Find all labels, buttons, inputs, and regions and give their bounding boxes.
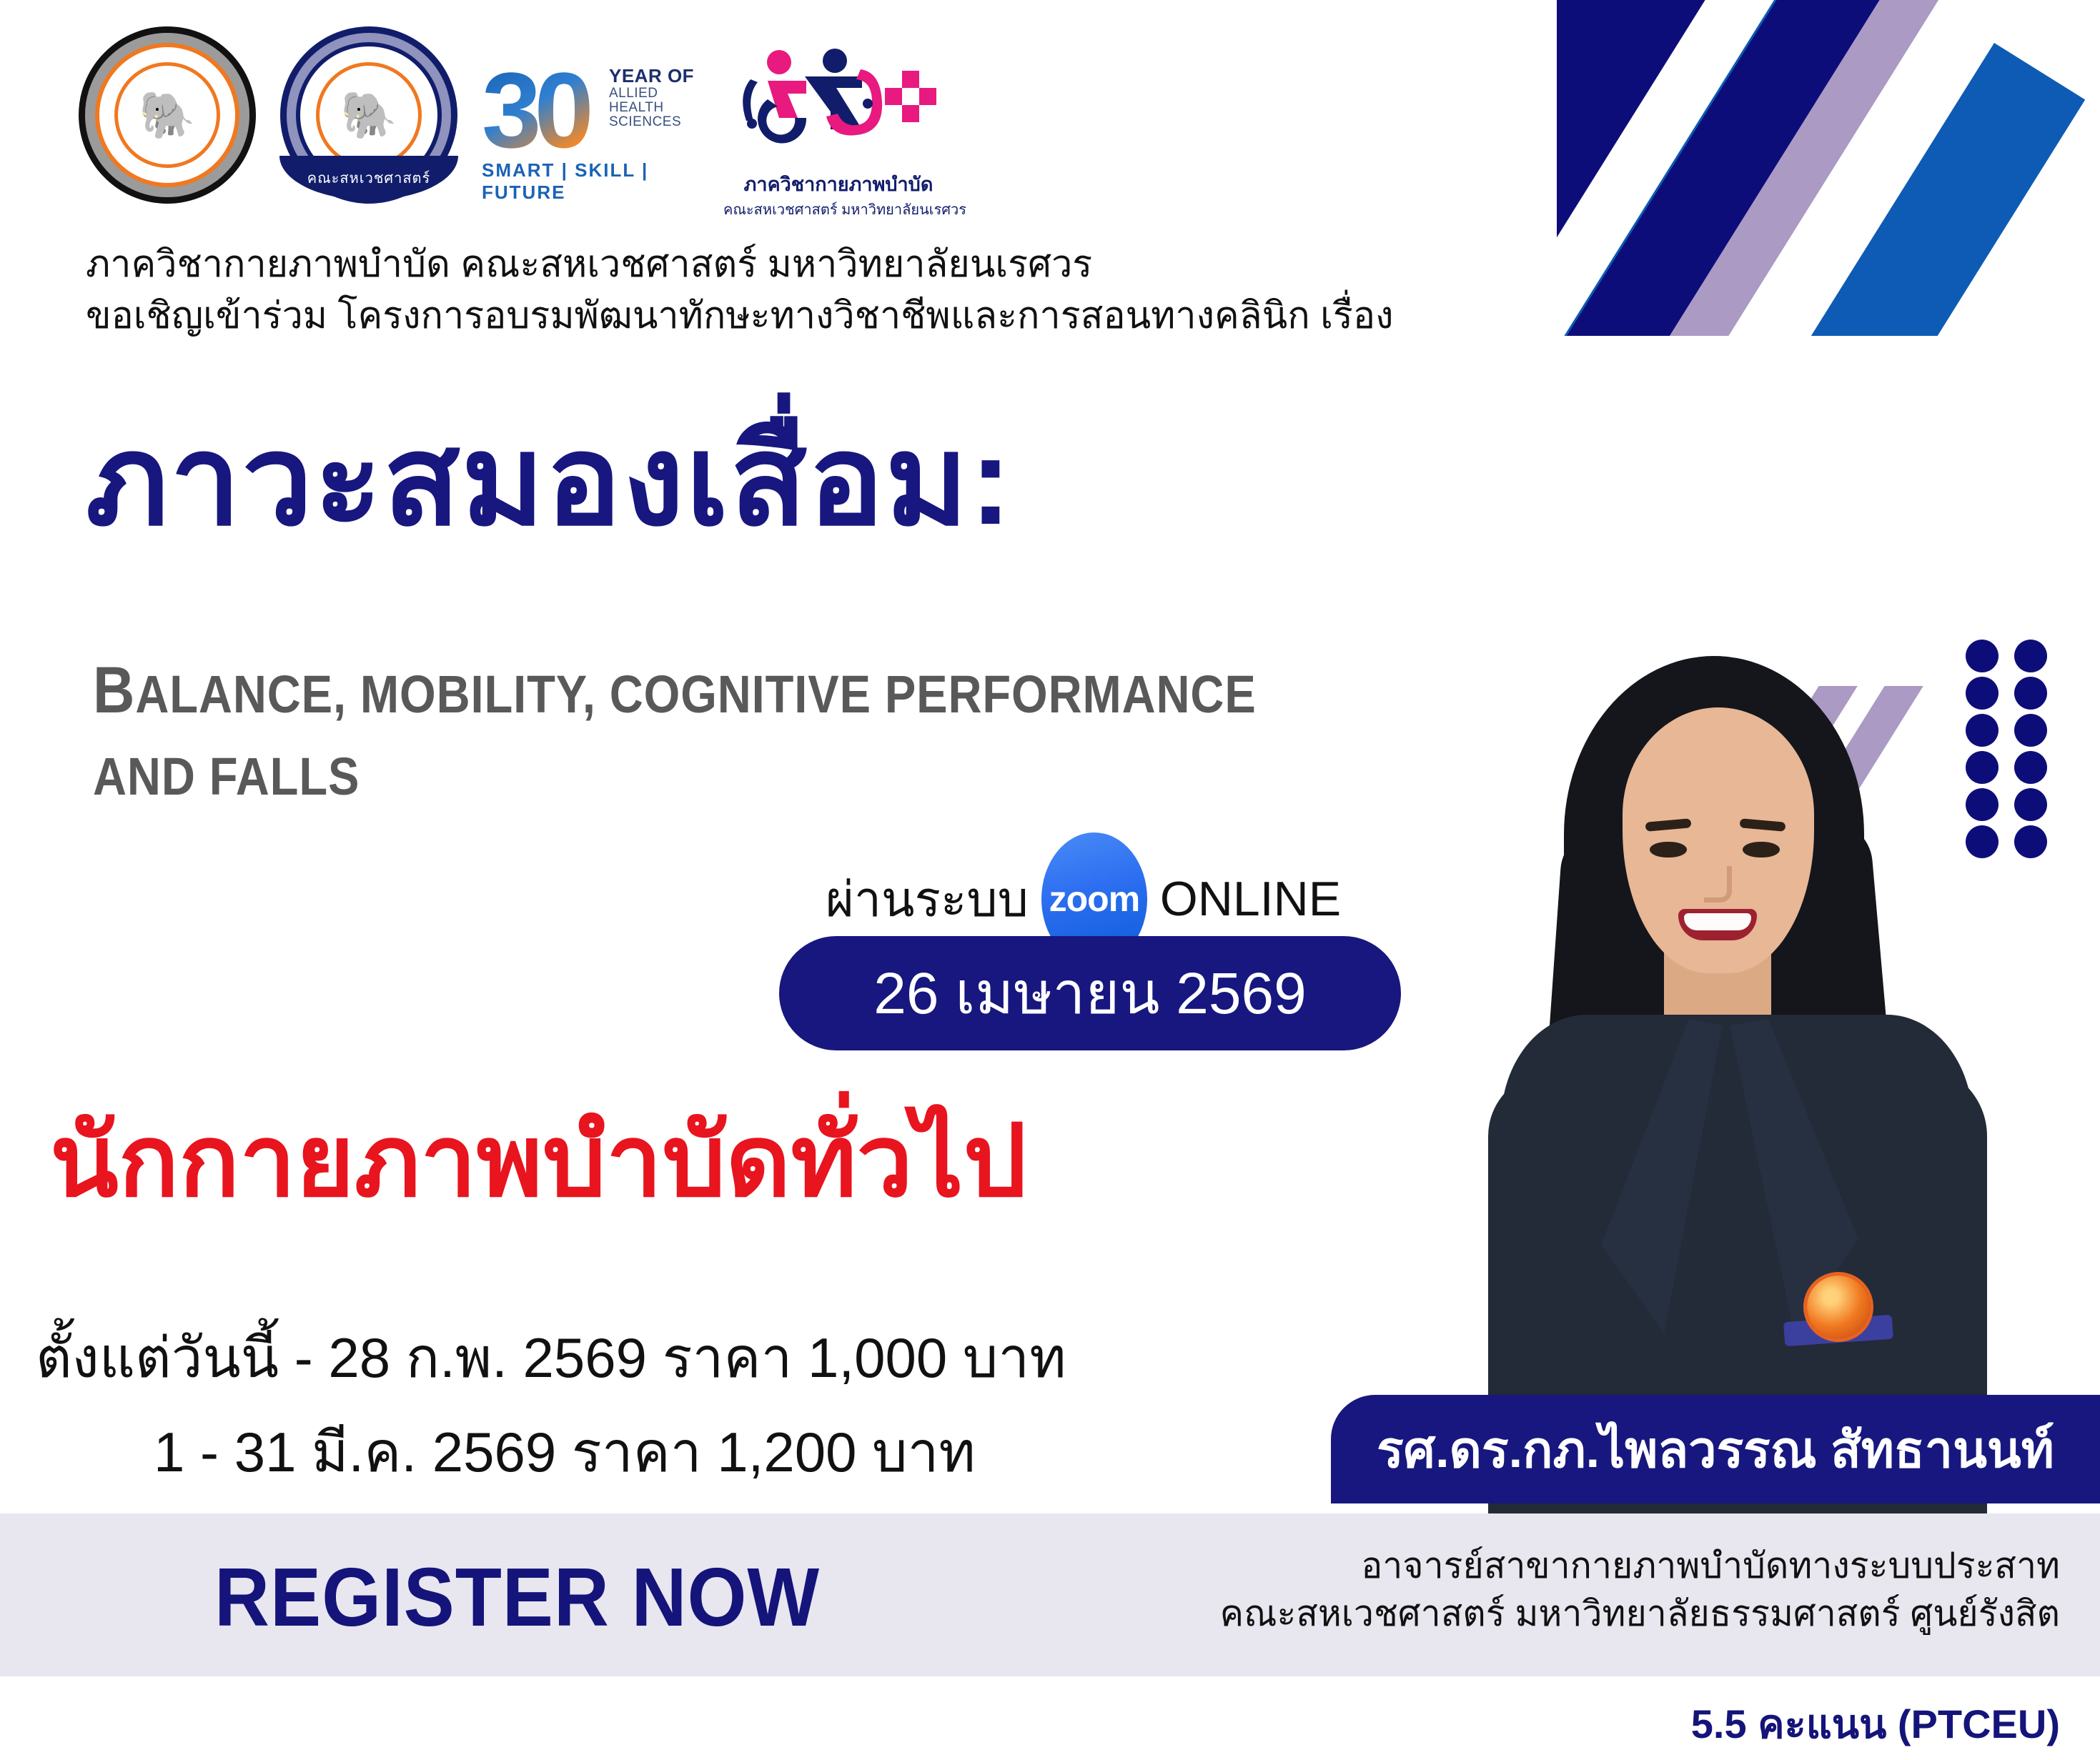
register-now-label[interactable]: REGISTER NOW [214, 1549, 820, 1645]
anniversary-year-of: YEAR OF ALLIED HEALTH SCIENCES [609, 66, 696, 129]
elephant-emblem-icon: 🐘 [316, 62, 422, 168]
portrait-mouth [1678, 909, 1757, 940]
decorative-dot [2014, 751, 2047, 784]
speaker-portrait-photo [1472, 615, 2016, 1515]
event-date-badge: 26 เมษายน 2569 [779, 936, 1401, 1050]
seal-ribbon-label: คณะสหเวชศาสตร์ [279, 156, 458, 200]
header-line-2: ขอเชิญเข้าร่วม โครงการอบรมพัฒนาทักษะทางว… [86, 291, 1393, 342]
portrait-eye-right [1743, 842, 1780, 857]
portrait-nose [1704, 866, 1732, 903]
ceu-credits-label: 5.5 คะแนน (PTCEU) [1691, 1692, 2060, 1756]
target-audience-heading: นักกายภาพบำบัดทั่วไป [50, 1111, 1027, 1211]
decorative-dot [2014, 825, 2047, 858]
event-poster: 🐘 🐘 คณะสหเวชศาสตร์ 30 YEAR OF ALLIED HEA… [0, 0, 2100, 1760]
decorative-dot [2014, 677, 2047, 710]
decorative-dot [2014, 714, 2047, 747]
pt-logo-caption-2: คณะสหเวชศาสตร์ มหาวิทยาลัยนเรศวร [723, 198, 954, 221]
portrait-teeth [1684, 913, 1751, 930]
allied-health-sciences-seal-icon: 🐘 คณะสหเวชศาสตร์ [280, 26, 457, 204]
subtitle-line-2: and falls [93, 738, 1257, 815]
anniversary-subtext: ALLIED HEALTH SCIENCES [609, 86, 696, 129]
decorative-dot [2014, 640, 2047, 672]
physical-therapy-department-logo: ภาควิชากายภาพบำบัด คณะสหเวชศาสตร์ มหาวิท… [720, 39, 956, 204]
anniversary-tagline: SMART | SKILL | FUTURE [482, 159, 696, 204]
diagonal-stripes-decoration [1557, 0, 2100, 336]
price-line-1: ตั้งแต่วันนี้ - 28 ก.พ. 2569 ราคา 1,000 … [36, 1313, 1066, 1402]
delivery-suffix: ONLINE [1160, 871, 1341, 927]
logo-row: 🐘 🐘 คณะสหเวชศาสตร์ 30 YEAR OF ALLIED HEA… [79, 39, 956, 204]
delivery-prefix: ผ่านระบบ [826, 860, 1029, 938]
speaker-affiliation: อาจารย์สาขากายภาพบำบัดทางระบบประสาท คณะส… [1220, 1542, 2060, 1638]
speaker-affiliation-line-1: อาจารย์สาขากายภาพบำบัดทางระบบประสาท [1220, 1542, 2060, 1590]
invitation-header: ภาควิชากายภาพบำบัด คณะสหเวชศาสตร์ มหาวิท… [86, 239, 1393, 342]
pt-therapy-figures-icon [726, 44, 955, 151]
speaker-name-banner: รศ.ดร.กภ.ไพลวรรณ สัทธานนท์ [1331, 1395, 2100, 1503]
speaker-affiliation-line-2: คณะสหเวชศาสตร์ มหาวิทยาลัยธรรมศาสตร์ ศูน… [1220, 1590, 2060, 1638]
subtitle-english: Balance, mobility, cognitive performance… [93, 643, 1257, 815]
portrait-lapel-pin-icon [1807, 1276, 1870, 1338]
subtitle-line-1: Balance, mobility, cognitive performance [93, 643, 1257, 738]
page-title: ภาวะสมองเสื่อม: [86, 418, 1013, 544]
naresuan-university-seal-icon: 🐘 [79, 26, 256, 204]
header-line-1: ภาควิชากายภาพบำบัด คณะสหเวชศาสตร์ มหาวิท… [86, 239, 1393, 291]
portrait-eye-left [1650, 842, 1687, 857]
anniversary-30-logo: 30 YEAR OF ALLIED HEALTH SCIENCES SMART … [482, 39, 696, 204]
pt-logo-caption-1: ภาควิชากายภาพบำบัด [723, 169, 954, 199]
elephant-emblem-icon: 🐘 [114, 62, 220, 168]
anniversary-year-of-text: YEAR OF [609, 65, 694, 86]
decorative-dot [2014, 788, 2047, 821]
price-line-2: 1 - 31 มี.ค. 2569 ราคา 1,200 บาท [154, 1408, 976, 1496]
